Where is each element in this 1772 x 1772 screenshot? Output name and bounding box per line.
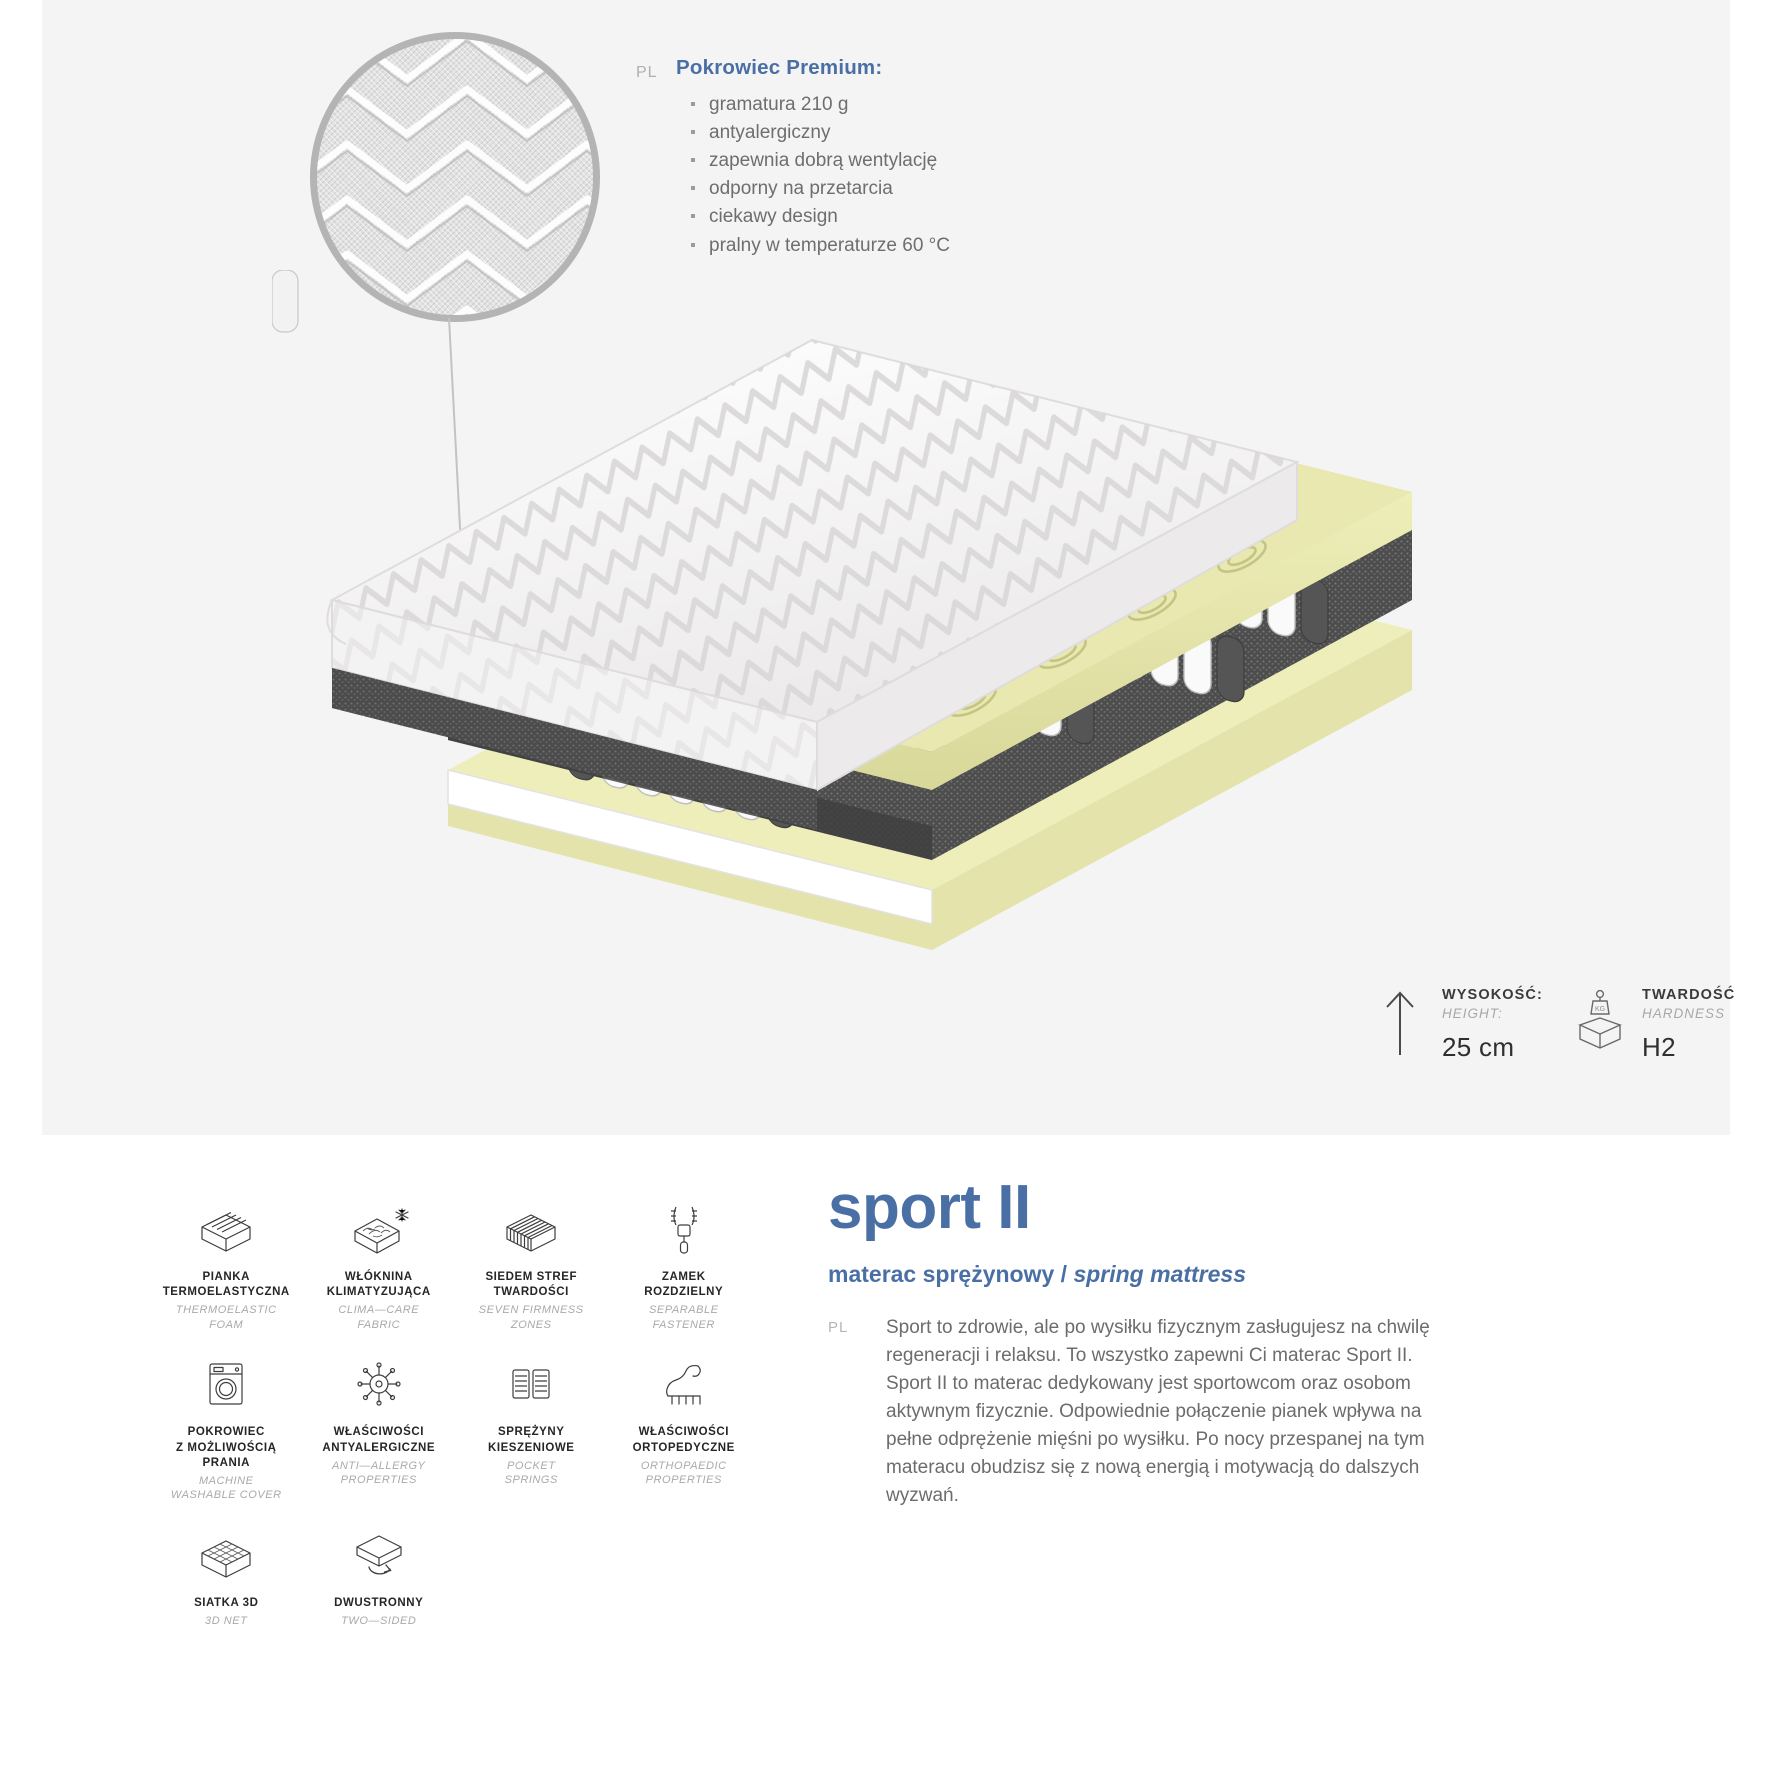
product-subtitle-en: spring mattress: [1073, 1261, 1246, 1287]
feature-two-sided: DWUSTRONNY TWO—SIDED: [303, 1521, 456, 1629]
feature-label-en: ORTHOPAEDICPROPERTIES: [612, 1459, 757, 1488]
feature-icon-grid: PIANKATERMOELASTYCZNA THERMOELASTICFOAM: [150, 1195, 760, 1629]
premium-cover-bullet-list: gramatura 210 g antyalergiczny zapewnia …: [688, 91, 1196, 260]
product-info: sport II materac sprężynowy / spring mat…: [828, 1177, 1448, 1509]
spec-hardness-label-en: HARDNESS: [1642, 1006, 1735, 1021]
spec-height-label-en: HEIGHT:: [1442, 1006, 1543, 1021]
product-subtitle-separator: /: [1054, 1261, 1073, 1287]
two-sided-icon: [347, 1527, 411, 1583]
spec-hardness-value: H2: [1642, 1032, 1735, 1063]
pocket-springs-icon: [499, 1356, 563, 1412]
mattress-cutaway-illustration: [272, 270, 1442, 950]
anti-allergy-icon: [347, 1356, 411, 1412]
spec-hardness: KG TWARDOŚĆ HARDNESS H2: [1572, 985, 1735, 1063]
list-item: zapewnia dobrą wentylację: [688, 147, 1196, 175]
feature-3d-net: SIATKA 3D 3D NET: [150, 1521, 303, 1629]
feature-label-en: CLIMA—CAREFABRIC: [307, 1303, 452, 1332]
list-item: antyalergiczny: [688, 119, 1196, 147]
feature-label-en: SEPARABLEFASTENER: [612, 1303, 757, 1332]
washing-machine-icon: [194, 1356, 258, 1412]
product-subtitle-pl: materac sprężynowy: [828, 1261, 1054, 1287]
feature-thermoelastic-foam: PIANKATERMOELASTYCZNA THERMOELASTICFOAM: [150, 1195, 303, 1332]
premium-cover-title: Pokrowiec Premium:: [676, 56, 1196, 80]
feature-label-en: 3D NET: [154, 1614, 299, 1629]
orthopaedic-icon: [652, 1356, 716, 1412]
spec-height-label-pl: WYSOKOŚĆ:: [1442, 987, 1543, 1003]
spec-height-value: 25 cm: [1442, 1032, 1543, 1063]
spec-row: WYSOKOŚĆ: HEIGHT: 25 cm KG TWARDOŚĆ H: [1372, 985, 1772, 1095]
seven-zones-icon: [499, 1201, 563, 1257]
premium-cover-callout: PL Pokrowiec Premium: gramatura 210 g an…: [636, 56, 1196, 260]
up-arrow-icon: [1372, 985, 1428, 1061]
list-item: pralny w temperaturze 60 °C: [688, 232, 1196, 260]
feature-label-pl: WŁAŚCIWOŚCIORTOPEDYCZNE: [612, 1425, 757, 1455]
feature-label-pl: WŁAŚCIWOŚCIANTYALERGICZNE: [307, 1425, 452, 1455]
feature-label-pl: ZAMEKROZDZIELNY: [612, 1270, 757, 1300]
feature-label-en: MACHINEWASHABLE COVER: [154, 1474, 299, 1503]
feature-seven-firmness-zones: SIEDEM STREFTWARDOŚCI SEVEN FIRMNESSZONE…: [455, 1195, 608, 1332]
feature-anti-allergy: WŁAŚCIWOŚCIANTYALERGICZNE ANTI—ALLERGYPR…: [303, 1350, 456, 1503]
list-item: ciekawy design: [688, 203, 1196, 231]
clima-care-fabric-icon: [347, 1201, 411, 1257]
weight-box-icon: KG: [1572, 985, 1628, 1061]
language-tag-pl: PL: [828, 1319, 848, 1336]
feature-label-pl: SPRĘŻYNYKIESZENIOWE: [459, 1425, 604, 1455]
language-tag-pl: PL: [636, 64, 658, 82]
feature-label-en: TWO—SIDED: [307, 1614, 452, 1629]
feature-pocket-springs: SPRĘŻYNYKIESZENIOWE POCKETSPRINGS: [455, 1350, 608, 1503]
bottom-panel: PIANKATERMOELASTYCZNA THERMOELASTICFOAM: [0, 1135, 1772, 1772]
feature-separable-fastener: ZAMEKROZDZIELNY SEPARABLEFASTENER: [608, 1195, 761, 1332]
list-item: gramatura 210 g: [688, 91, 1196, 119]
feature-label-pl: SIATKA 3D: [154, 1596, 299, 1611]
foam-block-icon: [194, 1201, 258, 1257]
feature-orthopaedic: WŁAŚCIWOŚCIORTOPEDYCZNE ORTHOPAEDICPROPE…: [608, 1350, 761, 1503]
feature-label-en: SEVEN FIRMNESSZONES: [459, 1303, 604, 1332]
feature-label-en: POCKETSPRINGS: [459, 1459, 604, 1488]
net-3d-icon: [194, 1527, 258, 1583]
feature-label-en: THERMOELASTICFOAM: [154, 1303, 299, 1332]
weight-box-kg-label: KG: [1595, 1006, 1605, 1013]
feature-label-pl: WŁÓKNINAKLIMATYZUJĄCA: [307, 1270, 452, 1300]
product-description: Sport to zdrowie, ale po wysiłku fizyczn…: [886, 1314, 1448, 1509]
list-item: odporny na przetarcia: [688, 175, 1196, 203]
spec-height: WYSOKOŚĆ: HEIGHT: 25 cm: [1372, 985, 1543, 1063]
feature-label-pl: PIANKATERMOELASTYCZNA: [154, 1270, 299, 1300]
feature-machine-washable-cover: POKROWIECZ MOŻLIWOŚCIĄPRANIA MACHINEWASH…: [150, 1350, 303, 1503]
page-title: sport II: [828, 1177, 1448, 1239]
feature-label-pl: DWUSTRONNY: [307, 1596, 452, 1611]
feature-clima-care-fabric: WŁÓKNINAKLIMATYZUJĄCA CLIMA—CAREFABRIC: [303, 1195, 456, 1332]
feature-label-pl: POKROWIECZ MOŻLIWOŚCIĄPRANIA: [154, 1425, 299, 1471]
feature-label-pl: SIEDEM STREFTWARDOŚCI: [459, 1270, 604, 1300]
product-subtitle: materac sprężynowy / spring mattress: [828, 1261, 1448, 1288]
feature-label-en: ANTI—ALLERGYPROPERTIES: [307, 1459, 452, 1488]
spec-hardness-label-pl: TWARDOŚĆ: [1642, 987, 1735, 1003]
zipper-icon: [652, 1201, 716, 1257]
top-panel: PL Pokrowiec Premium: gramatura 210 g an…: [42, 0, 1730, 1135]
